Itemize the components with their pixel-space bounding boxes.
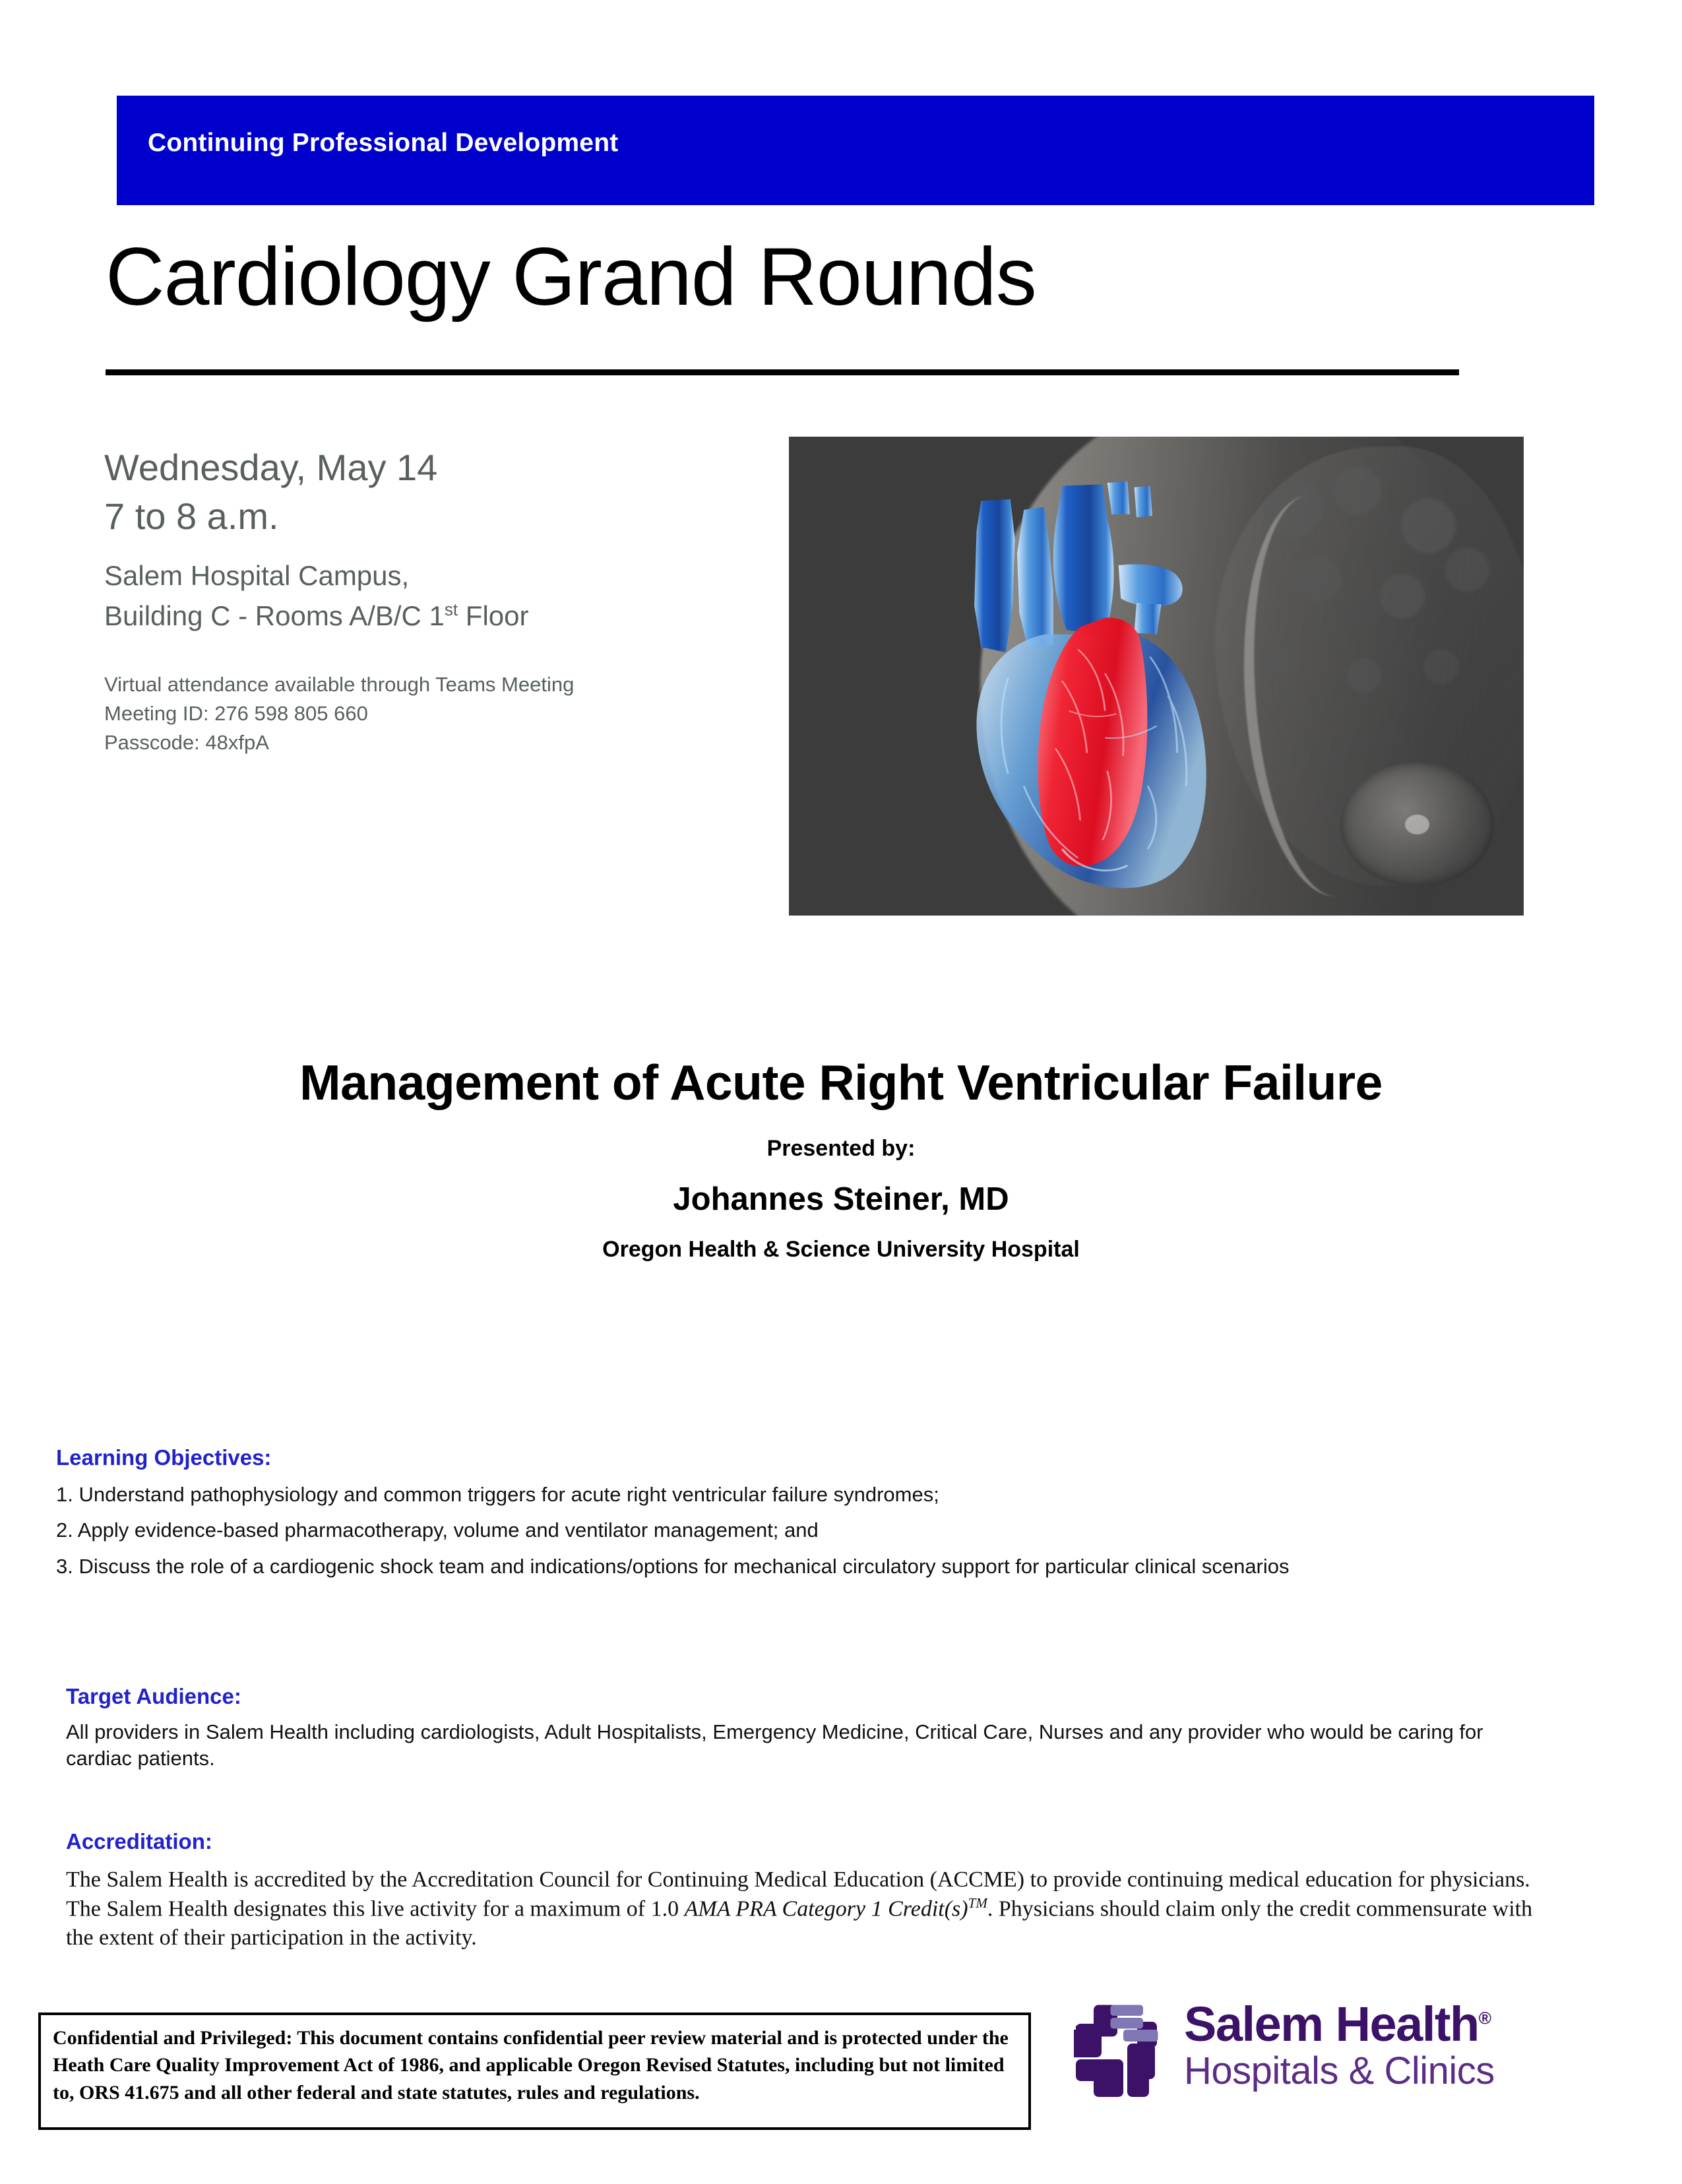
heart-anatomy-icon: [936, 456, 1274, 906]
confidentiality-notice-box: Confidential and Privileged: This docume…: [38, 2012, 1031, 2130]
title-underline: [106, 369, 1459, 375]
trademark-superscript: TM: [968, 1895, 987, 1911]
page-title: Cardiology Grand Rounds: [106, 234, 1464, 320]
presenter-name: Johannes Steiner, MD: [0, 1181, 1682, 1218]
objective-item: 1. Understand pathophysiology and common…: [56, 1482, 1593, 1507]
ama-credit-italic: AMA PRA Category 1 Credit(s): [685, 1896, 968, 1921]
learning-objectives-section: Learning Objectives: 1. Understand patho…: [56, 1445, 1593, 1579]
objective-item: 3. Discuss the role of a cardiogenic sho…: [56, 1554, 1593, 1579]
event-date: Wednesday, May 14: [104, 443, 764, 492]
event-details: Wednesday, May 14 7 to 8 a.m. Salem Hosp…: [104, 443, 764, 757]
header-banner: Continuing Professional Development: [117, 96, 1594, 205]
event-venue: Salem Hospital Campus, Building C - Room…: [104, 555, 764, 637]
meeting-passcode: Passcode: 48xfpA: [104, 728, 764, 757]
venue-floor: Floor: [458, 600, 528, 631]
registered-trademark-icon: ®: [1479, 2008, 1491, 2028]
target-audience-section: Target Audience: All providers in Salem …: [66, 1683, 1543, 1772]
event-venue-line1: Salem Hospital Campus,: [104, 555, 764, 596]
event-time: 7 to 8 a.m.: [104, 492, 764, 541]
venue-ordinal-suffix: st: [445, 600, 458, 619]
presented-by-label: Presented by:: [0, 1136, 1682, 1162]
accreditation-heading: Accreditation:: [66, 1828, 1547, 1855]
event-venue-line2: Building C - Rooms A/B/C 1st Floor: [104, 596, 764, 636]
logo-secondary-text: Hospitals & Clinics: [1184, 2051, 1567, 2092]
meeting-id: Meeting ID: 276 598 805 660: [104, 699, 764, 728]
learning-objectives-heading: Learning Objectives:: [56, 1445, 1593, 1471]
logo-primary-text: Salem Health®: [1184, 2000, 1490, 2049]
device-disc: [1340, 763, 1495, 887]
confidentiality-notice-text: Confidential and Privileged: This docume…: [53, 2024, 1016, 2106]
accreditation-text: The Salem Health is accredited by the Ac…: [66, 1865, 1547, 1953]
target-audience-text: All providers in Salem Health including …: [66, 1719, 1543, 1772]
heart-illustration: [789, 437, 1524, 916]
accreditation-section: Accreditation: The Salem Health is accre…: [66, 1828, 1547, 1952]
presenter-organization: Oregon Health & Science University Hospi…: [0, 1237, 1682, 1263]
header-banner-label: Continuing Professional Development: [148, 129, 618, 158]
venue-building: Building C - Rooms A/B/C 1: [104, 600, 445, 631]
salem-health-cross-icon: [1074, 2001, 1173, 2102]
salem-health-wordmark: Salem Health® Hospitals & Clinics: [1184, 2000, 1567, 2092]
session-title: Management of Acute Right Ventricular Fa…: [0, 1054, 1682, 1111]
objective-item: 2. Apply evidence-based pharmacotherapy,…: [56, 1518, 1593, 1543]
salem-health-logo: Salem Health® Hospitals & Clinics: [1069, 2000, 1570, 2125]
virtual-attendance-info: Virtual attendance available through Tea…: [104, 670, 764, 757]
target-audience-heading: Target Audience:: [66, 1683, 1543, 1710]
logo-name: Salem Health: [1184, 1997, 1479, 2051]
virtual-note: Virtual attendance available through Tea…: [104, 670, 764, 699]
